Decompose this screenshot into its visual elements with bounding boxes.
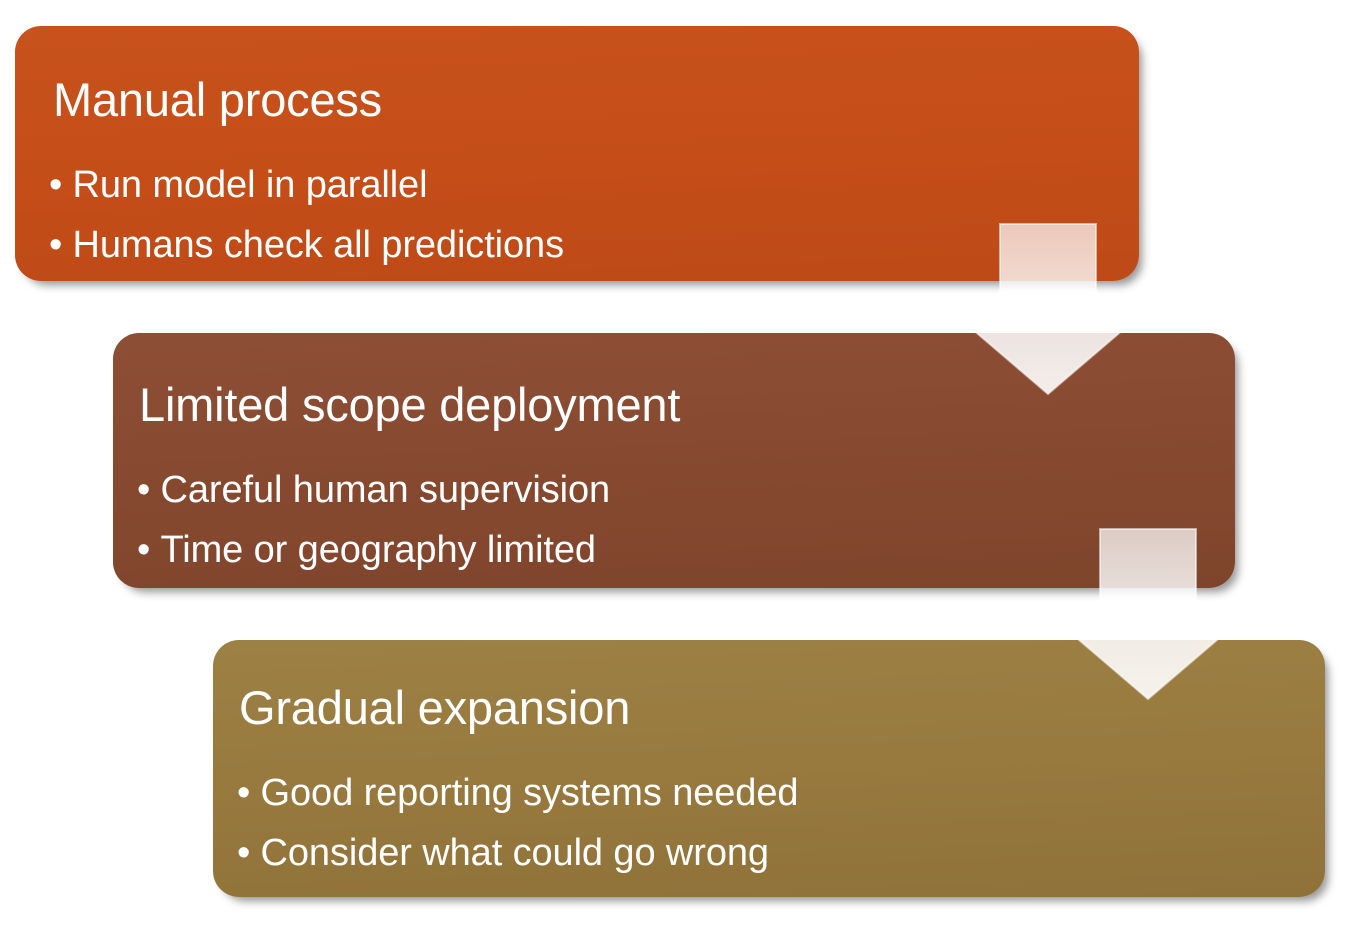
diagram-canvas: Manual process •Run model in parallel •H… [0, 0, 1358, 928]
bullet-text: Good reporting systems needed [261, 772, 799, 814]
stage-bullet-list: •Run model in parallel •Humans check all… [49, 166, 1139, 286]
bullet-dot-icon: • [137, 471, 161, 509]
bullet-item: •Time or geography limited [137, 531, 1235, 569]
bullet-item: •Consider what could go wrong [237, 834, 1325, 872]
bullet-dot-icon: • [137, 531, 161, 569]
bullet-dot-icon: • [237, 834, 261, 872]
stage-box-limited-scope-deployment[interactable]: Limited scope deployment •Careful human … [113, 333, 1235, 588]
bullet-item: •Humans check all predictions [49, 226, 1139, 264]
stage-title: Limited scope deployment [139, 381, 1235, 428]
stage-box-manual-process[interactable]: Manual process •Run model in parallel •H… [15, 26, 1139, 281]
bullet-text: Time or geography limited [161, 529, 596, 571]
bullet-item: •Good reporting systems needed [237, 774, 1325, 812]
bullet-text: Consider what could go wrong [261, 832, 769, 874]
bullet-dot-icon: • [49, 166, 73, 204]
stage-bullet-list: •Good reporting systems needed •Consider… [237, 774, 1325, 894]
stage-title: Manual process [53, 76, 1139, 123]
bullet-item: •Run model in parallel [49, 166, 1139, 204]
stage-title: Gradual expansion [239, 684, 1325, 731]
stage-box-gradual-expansion[interactable]: Gradual expansion •Good reporting system… [213, 640, 1325, 897]
bullet-text: Run model in parallel [73, 164, 428, 206]
stage-bullet-list: •Careful human supervision •Time or geog… [137, 471, 1235, 591]
bullet-dot-icon: • [237, 774, 261, 812]
bullet-item: •Careful human supervision [137, 471, 1235, 509]
bullet-text: Humans check all predictions [73, 224, 564, 266]
bullet-dot-icon: • [49, 226, 73, 264]
bullet-text: Careful human supervision [161, 469, 611, 511]
